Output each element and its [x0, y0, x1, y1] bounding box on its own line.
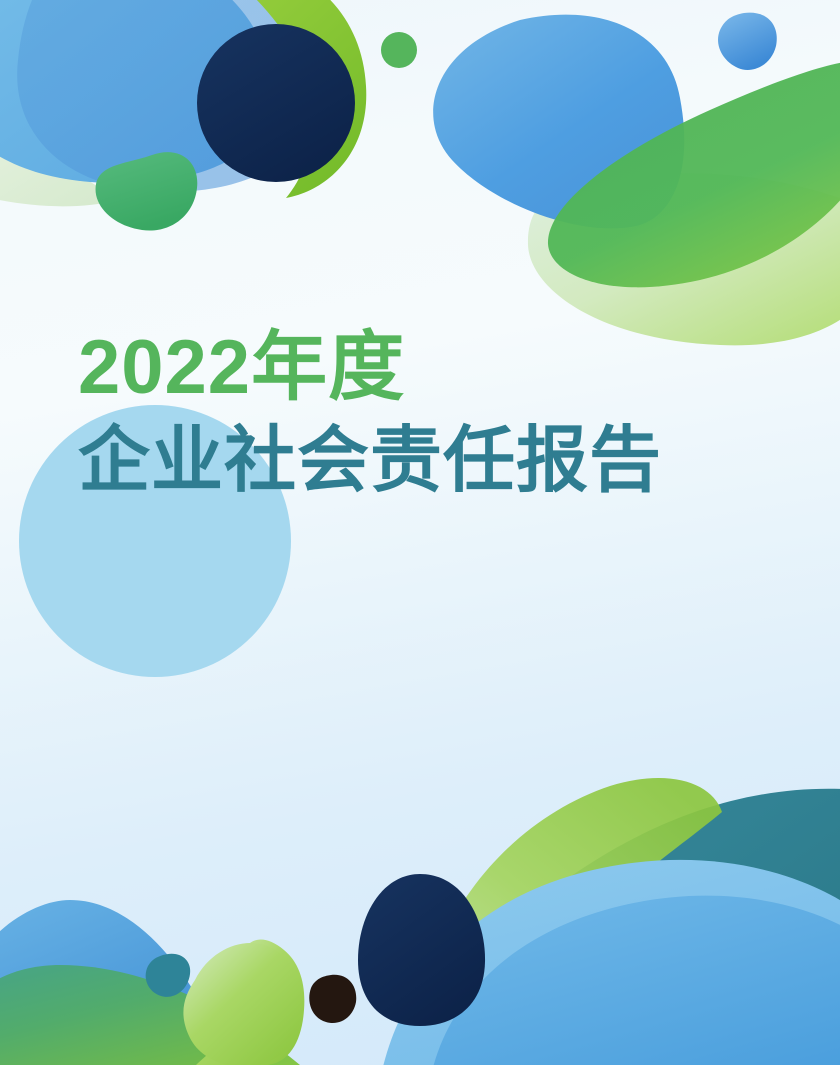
bottom-dark-brown-dot	[309, 975, 356, 1023]
top-small-green-dot	[381, 32, 417, 68]
bottom-center-lime-blob-2	[183, 943, 301, 1065]
cover-title-year: 2022年度	[78, 325, 778, 411]
bottom-navy-egg	[358, 874, 485, 1026]
top-navy-circle	[197, 24, 355, 182]
decorative-background-art	[0, 0, 840, 1065]
cover-title-main: 企业社会责任报告	[78, 411, 778, 503]
top-left-cluster	[0, 0, 417, 231]
bottom-cluster	[0, 778, 840, 1065]
top-right-small-blue-teardrop	[718, 13, 777, 70]
cover-title-block: 2022年度 企业社会责任报告	[78, 325, 778, 503]
top-right-cluster	[433, 13, 840, 346]
report-cover-page: 2022年度 企业社会责任报告	[0, 0, 840, 1065]
